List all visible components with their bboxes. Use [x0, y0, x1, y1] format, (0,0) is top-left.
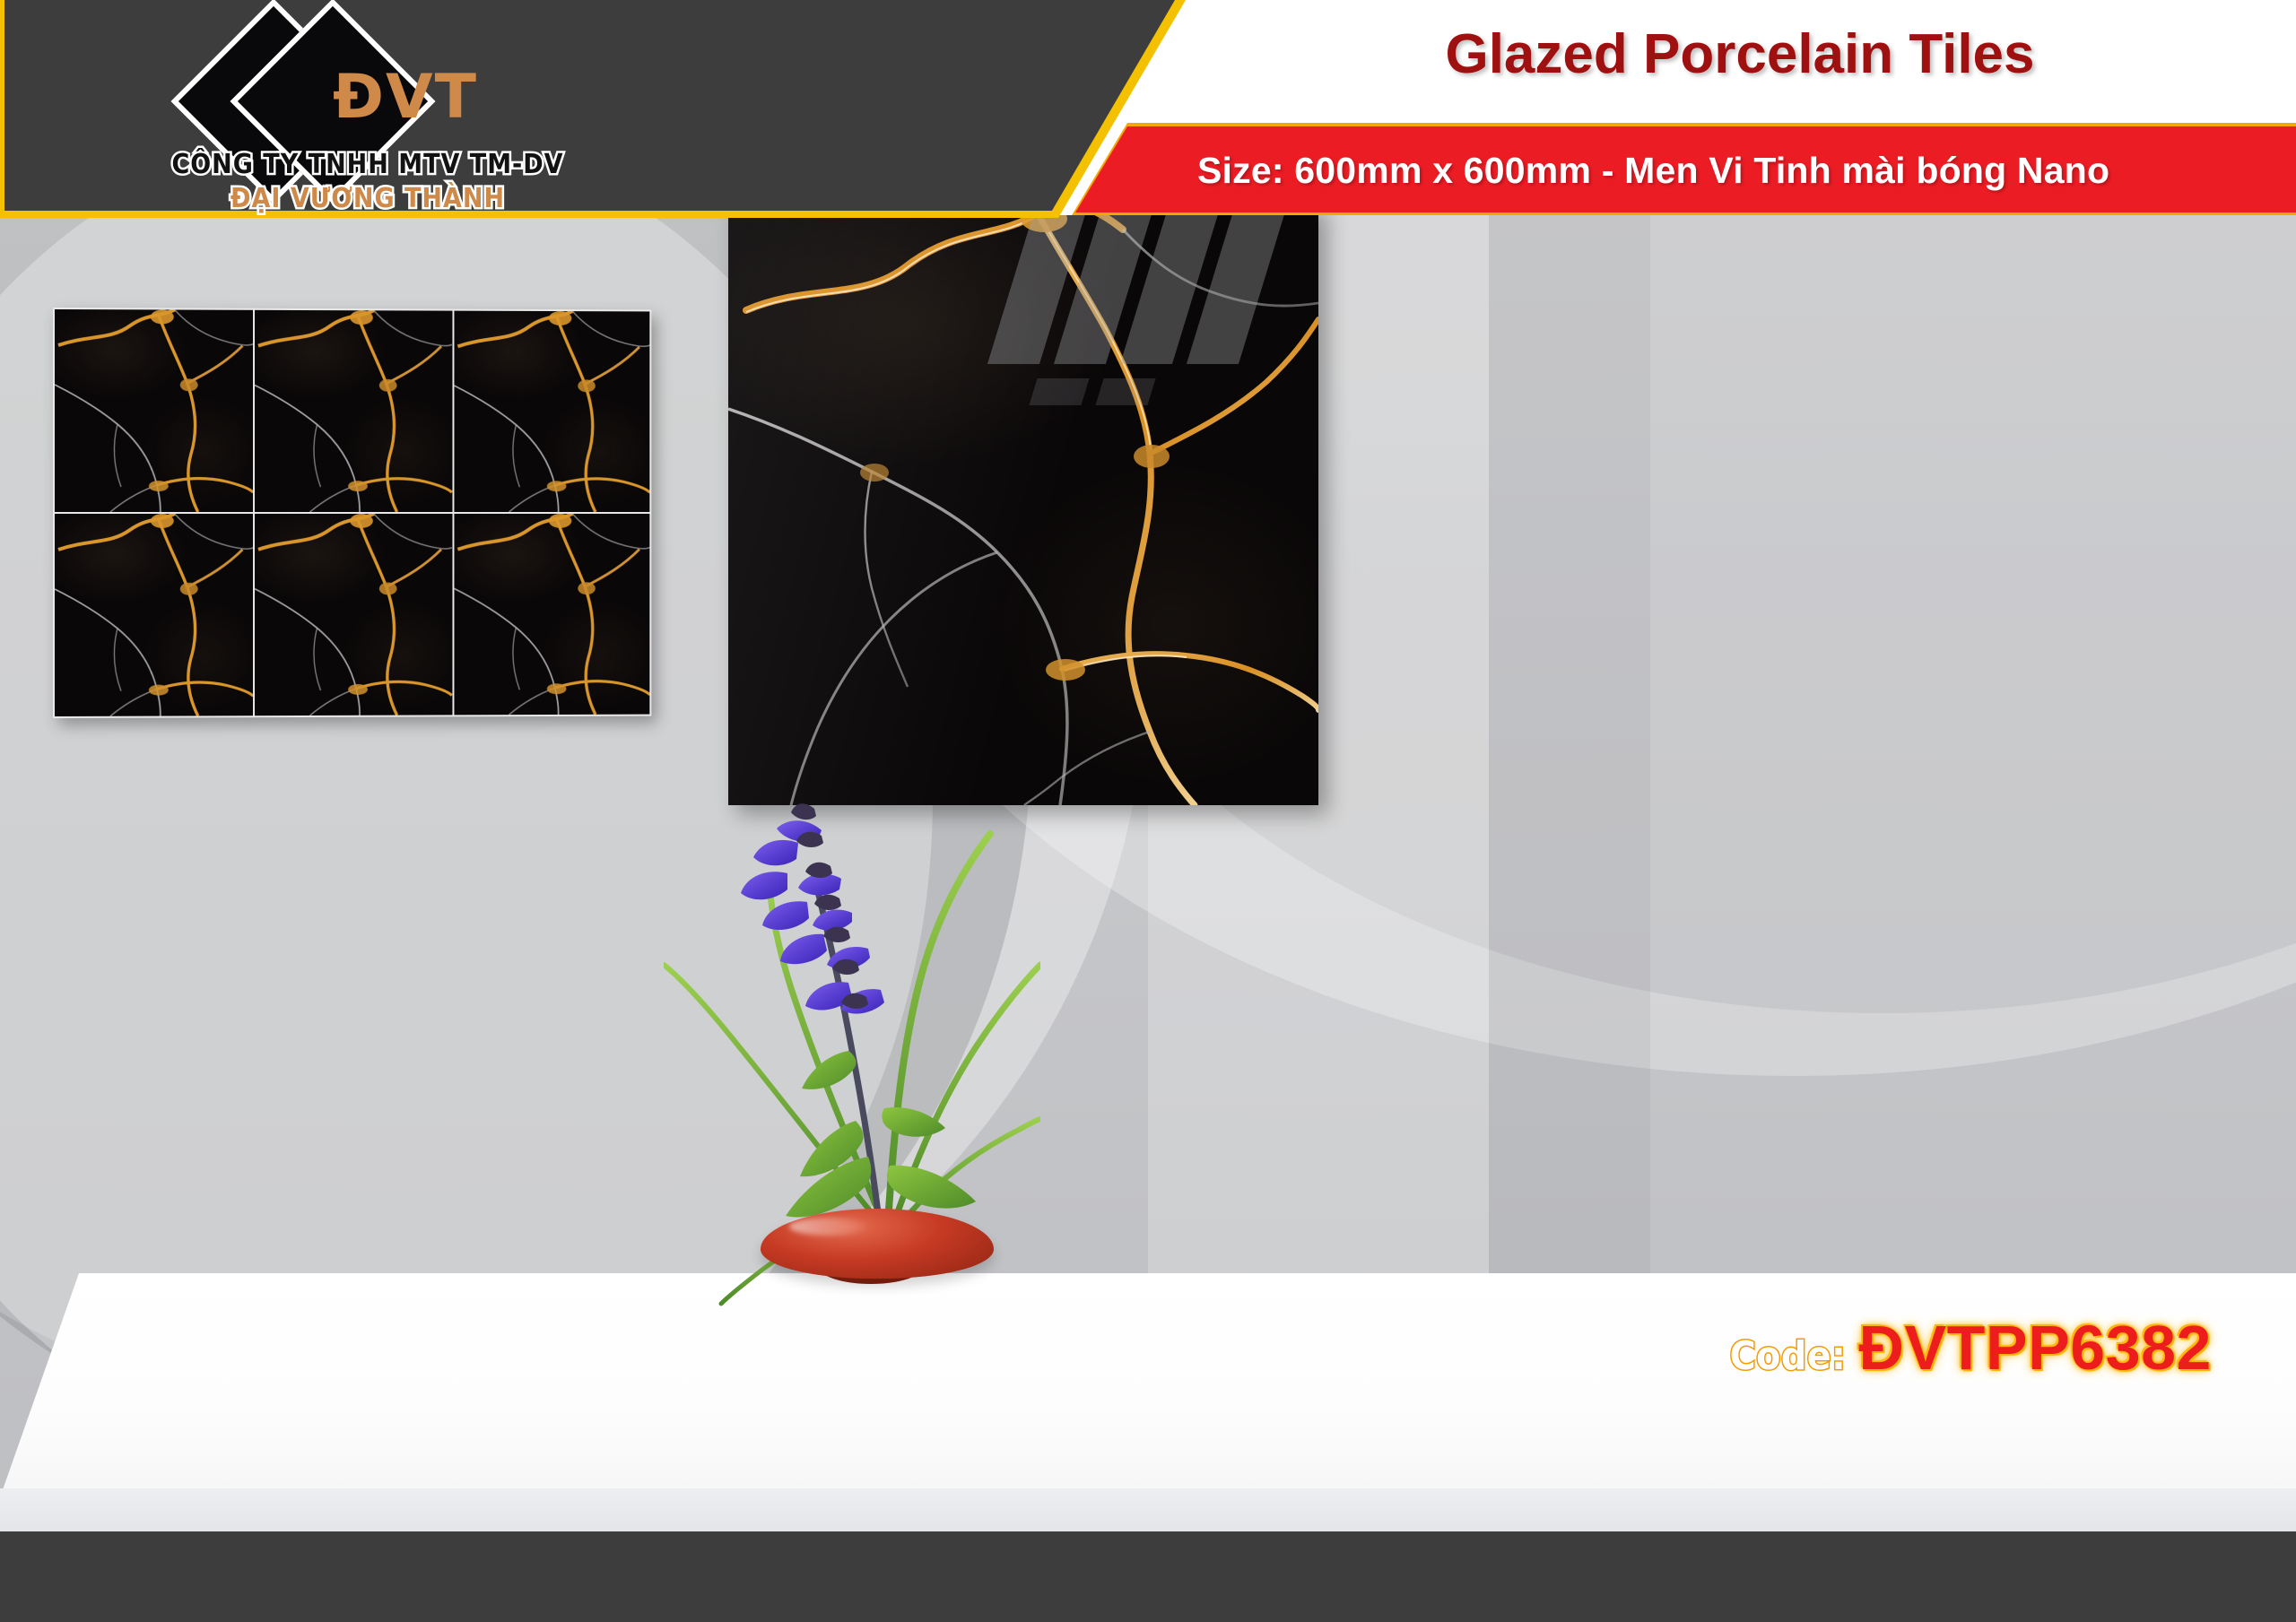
spec-banner-text: Size: 600mm x 600mm - Men Vi Tinh mài bó… [1197, 128, 2256, 213]
wall-light-band-2 [1489, 215, 1650, 1273]
poster-canvas: ĐVT CÔNG TY TNHH MTV TM-DV ĐẠI VƯƠNG THÀ… [0, 0, 2296, 1622]
flower-arrangement [664, 735, 1040, 1309]
product-code: Code: ĐVTPP6382 [1730, 1312, 2212, 1387]
tile-cell[interactable] [55, 514, 253, 716]
logo-monogram: ĐVT [298, 52, 513, 142]
product-code-label: Code: [1730, 1333, 1847, 1379]
product-code-value: ĐVTPP6382 [1858, 1312, 2212, 1383]
page-title: Glazed Porcelain Tiles [1229, 13, 2251, 95]
tile-cell[interactable] [255, 514, 452, 716]
counter-front-edge [0, 1488, 2296, 1531]
tile-cell[interactable] [454, 311, 649, 512]
tile-cell[interactable] [255, 310, 452, 512]
tile-wall-grid[interactable] [53, 308, 651, 718]
floor-band [0, 1531, 2296, 1622]
company-name-line2: ĐẠI VƯƠNG THÀNH [135, 183, 601, 214]
brand-logo[interactable]: ĐVT CÔNG TY TNHH MTV TM-DV ĐẠI VƯƠNG THÀ… [135, 5, 601, 213]
header-left-gold-rule [0, 0, 4, 215]
feature-tile-marble-surface [728, 215, 1318, 805]
feature-tile-panel[interactable] [728, 215, 1318, 805]
company-name-line1: CÔNG TY TNHH MTV TM-DV [135, 149, 601, 180]
vase-highlight [789, 1218, 872, 1236]
product-scene [0, 215, 2296, 1622]
tile-cell[interactable] [454, 514, 649, 715]
feature-tile-veining [728, 215, 1318, 805]
poster-header: ĐVT CÔNG TY TNHH MTV TM-DV ĐẠI VƯƠNG THÀ… [0, 0, 2296, 215]
tile-cell[interactable] [55, 309, 253, 512]
